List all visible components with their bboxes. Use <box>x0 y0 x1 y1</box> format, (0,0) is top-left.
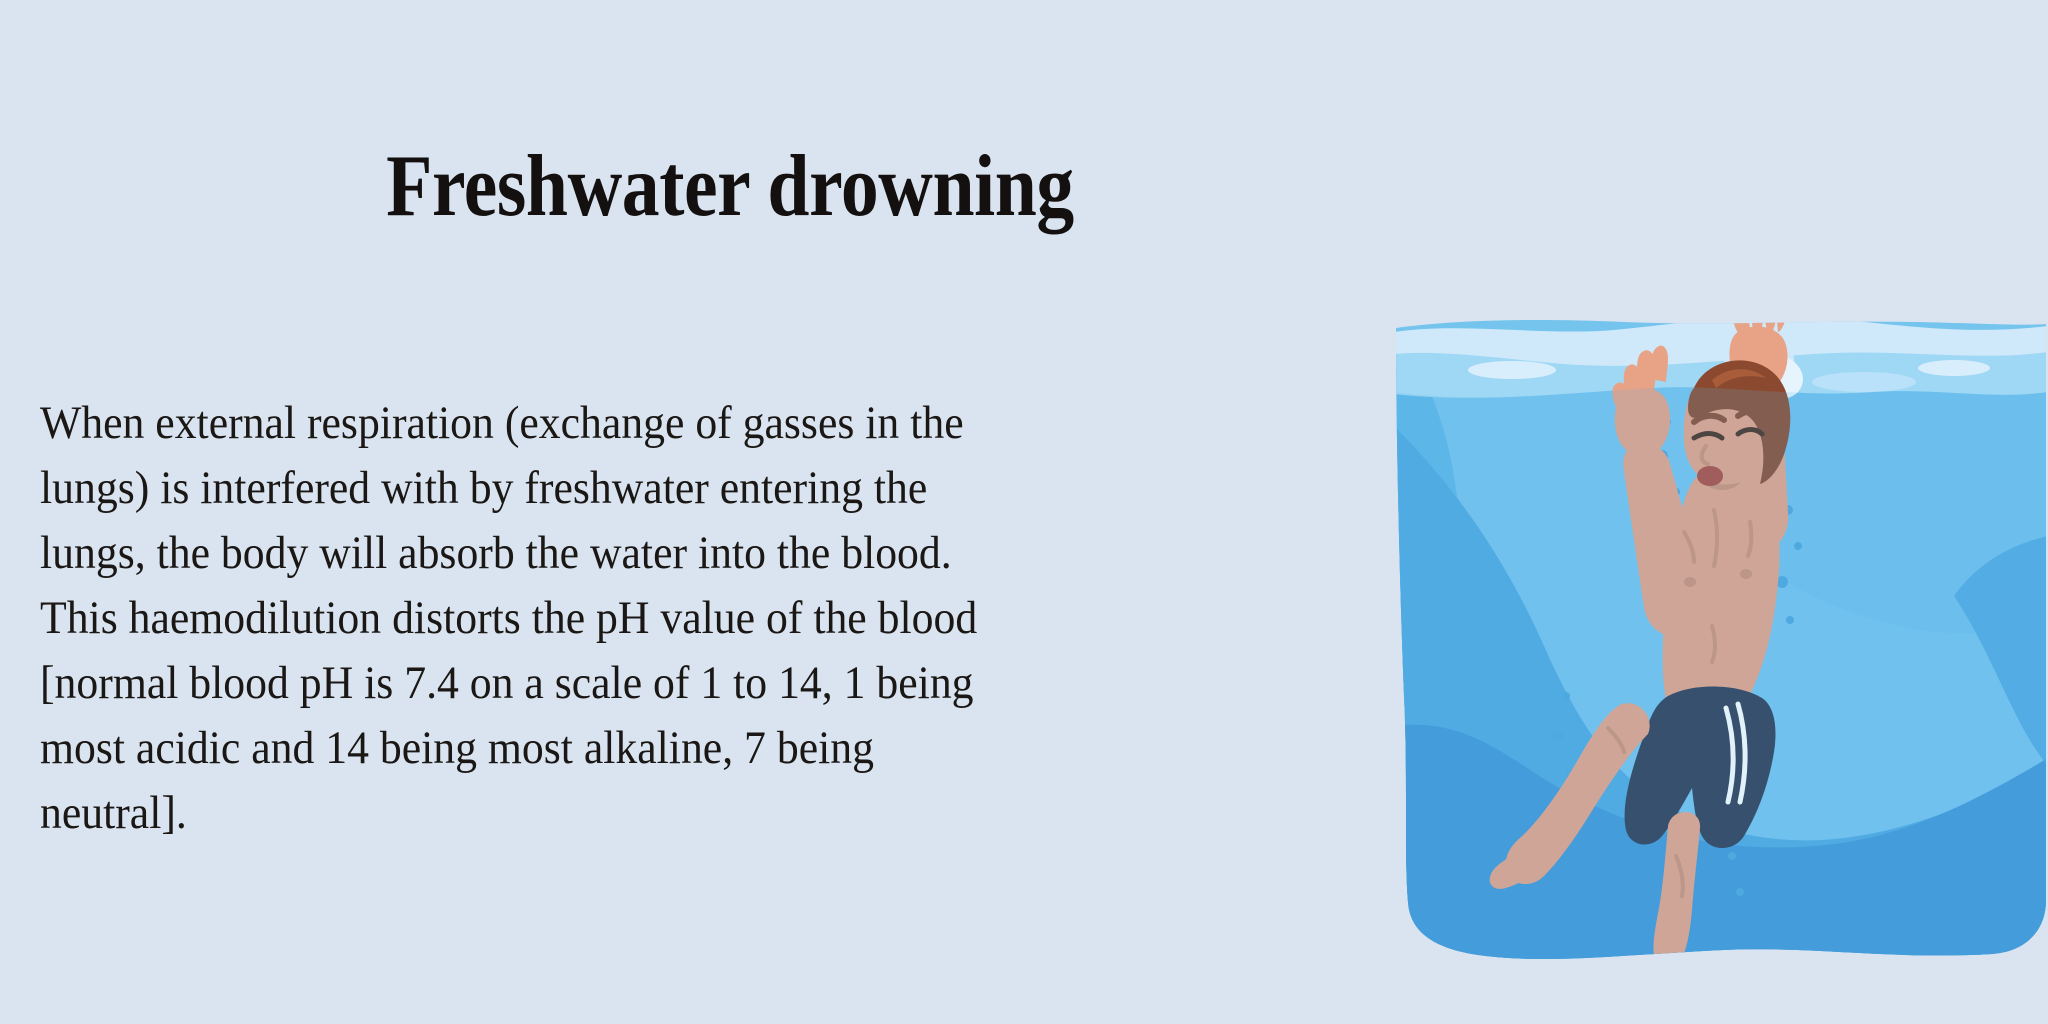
foam-cap-left <box>1468 361 1556 379</box>
water-body <box>1394 296 2048 964</box>
swimmer-scene-svg <box>1394 296 2048 964</box>
foam-cap-right <box>1918 360 1990 376</box>
body-paragraph: When external respiration (exchange of g… <box>40 391 989 846</box>
water-depth-veil <box>1394 387 2048 964</box>
slide-canvas: Freshwater drowning When external respir… <box>0 0 2048 1024</box>
foam-cap-mid-right <box>1812 372 1916 392</box>
drowning-swimmer-illustration <box>1394 296 2048 964</box>
page-title: Freshwater drowning <box>102 143 1358 231</box>
